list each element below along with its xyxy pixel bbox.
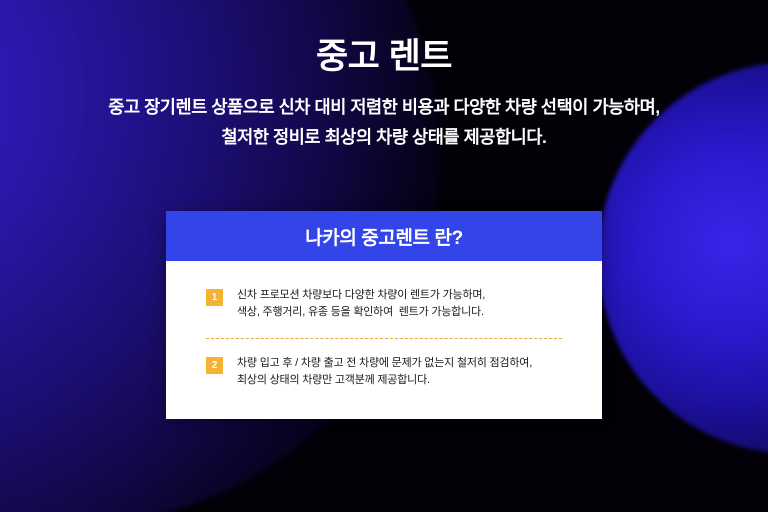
page-title: 중고 렌트 — [0, 0, 768, 78]
item-text: 차량 입고 후 / 차량 출고 전 차량에 문제가 없는지 철저히 점검하여, … — [237, 355, 532, 389]
info-card: 나카의 중고렌트 란? 1 신차 프로모션 차량보다 다양한 차량이 렌트가 가… — [166, 211, 602, 419]
item-text-line-1: 신차 프로모션 차량보다 다양한 차량이 렌트가 가능하며, — [237, 287, 485, 304]
item-text: 신차 프로모션 차량보다 다양한 차량이 렌트가 가능하며, 색상, 주행거리,… — [237, 287, 485, 321]
item-number-badge: 1 — [206, 289, 223, 306]
dashed-divider — [206, 338, 562, 339]
item-text-line-2: 색상, 주행거리, 유종 등을 확인하여 렌트가 가능합니다. — [237, 304, 485, 321]
item-number-badge: 2 — [206, 357, 223, 374]
card-body: 1 신차 프로모션 차량보다 다양한 차량이 렌트가 가능하며, 색상, 주행거… — [166, 261, 602, 419]
card-header: 나카의 중고렌트 란? — [166, 211, 602, 261]
page-subtitle: 중고 장기렌트 상품으로 신차 대비 저렴한 비용과 다양한 차량 선택이 가능… — [0, 78, 768, 152]
item-text-line-2: 최상의 상태의 차량만 고객분께 제공합니다. — [237, 372, 532, 389]
list-item: 2 차량 입고 후 / 차량 출고 전 차량에 문제가 없는지 철저히 점검하여… — [206, 355, 562, 389]
list-item: 1 신차 프로모션 차량보다 다양한 차량이 렌트가 가능하며, 색상, 주행거… — [206, 287, 562, 321]
card-header-title: 나카의 중고렌트 란? — [305, 223, 463, 250]
item-text-line-1: 차량 입고 후 / 차량 출고 전 차량에 문제가 없는지 철저히 점검하여, — [237, 355, 532, 372]
hero-section: 중고 렌트 중고 장기렌트 상품으로 신차 대비 저렴한 비용과 다양한 차량 … — [0, 0, 768, 152]
promo-page: 중고 렌트 중고 장기렌트 상품으로 신차 대비 저렴한 비용과 다양한 차량 … — [0, 0, 768, 512]
page-subtitle-line-1: 중고 장기렌트 상품으로 신차 대비 저렴한 비용과 다양한 차량 선택이 가능… — [0, 92, 768, 122]
page-subtitle-line-2: 철저한 정비로 최상의 차량 상태를 제공합니다. — [0, 122, 768, 152]
